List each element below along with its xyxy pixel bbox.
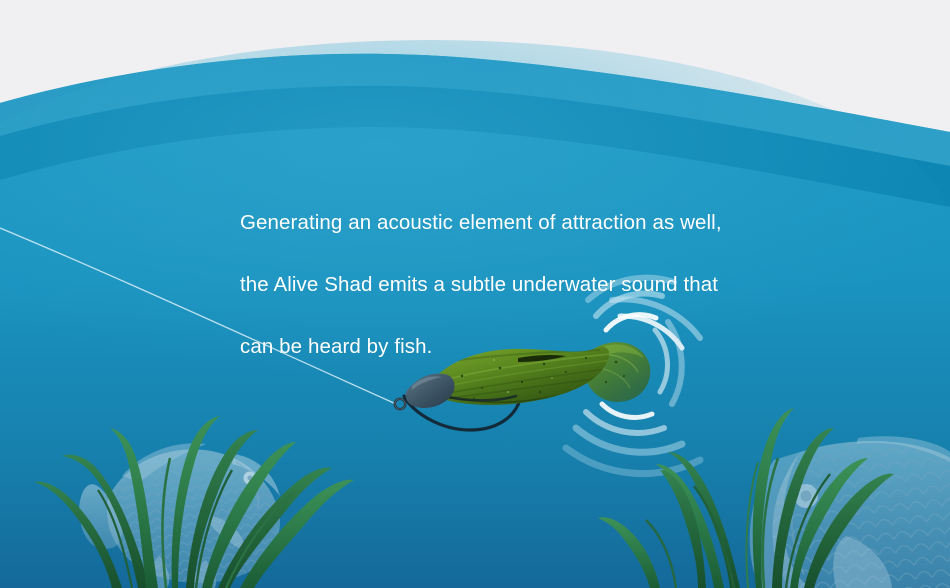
underwater-scene: Generating an acoustic element of attrac…: [0, 0, 950, 588]
caption-text-block: Generating an acoustic element of attrac…: [240, 176, 840, 393]
caption-line-1: Generating an acoustic element of attrac…: [240, 207, 840, 238]
caption-line-2: the Alive Shad emits a subtle underwater…: [240, 269, 840, 300]
caption-line-3: can be heard by fish.: [240, 331, 840, 362]
seaweed-right-blades: [598, 408, 894, 588]
